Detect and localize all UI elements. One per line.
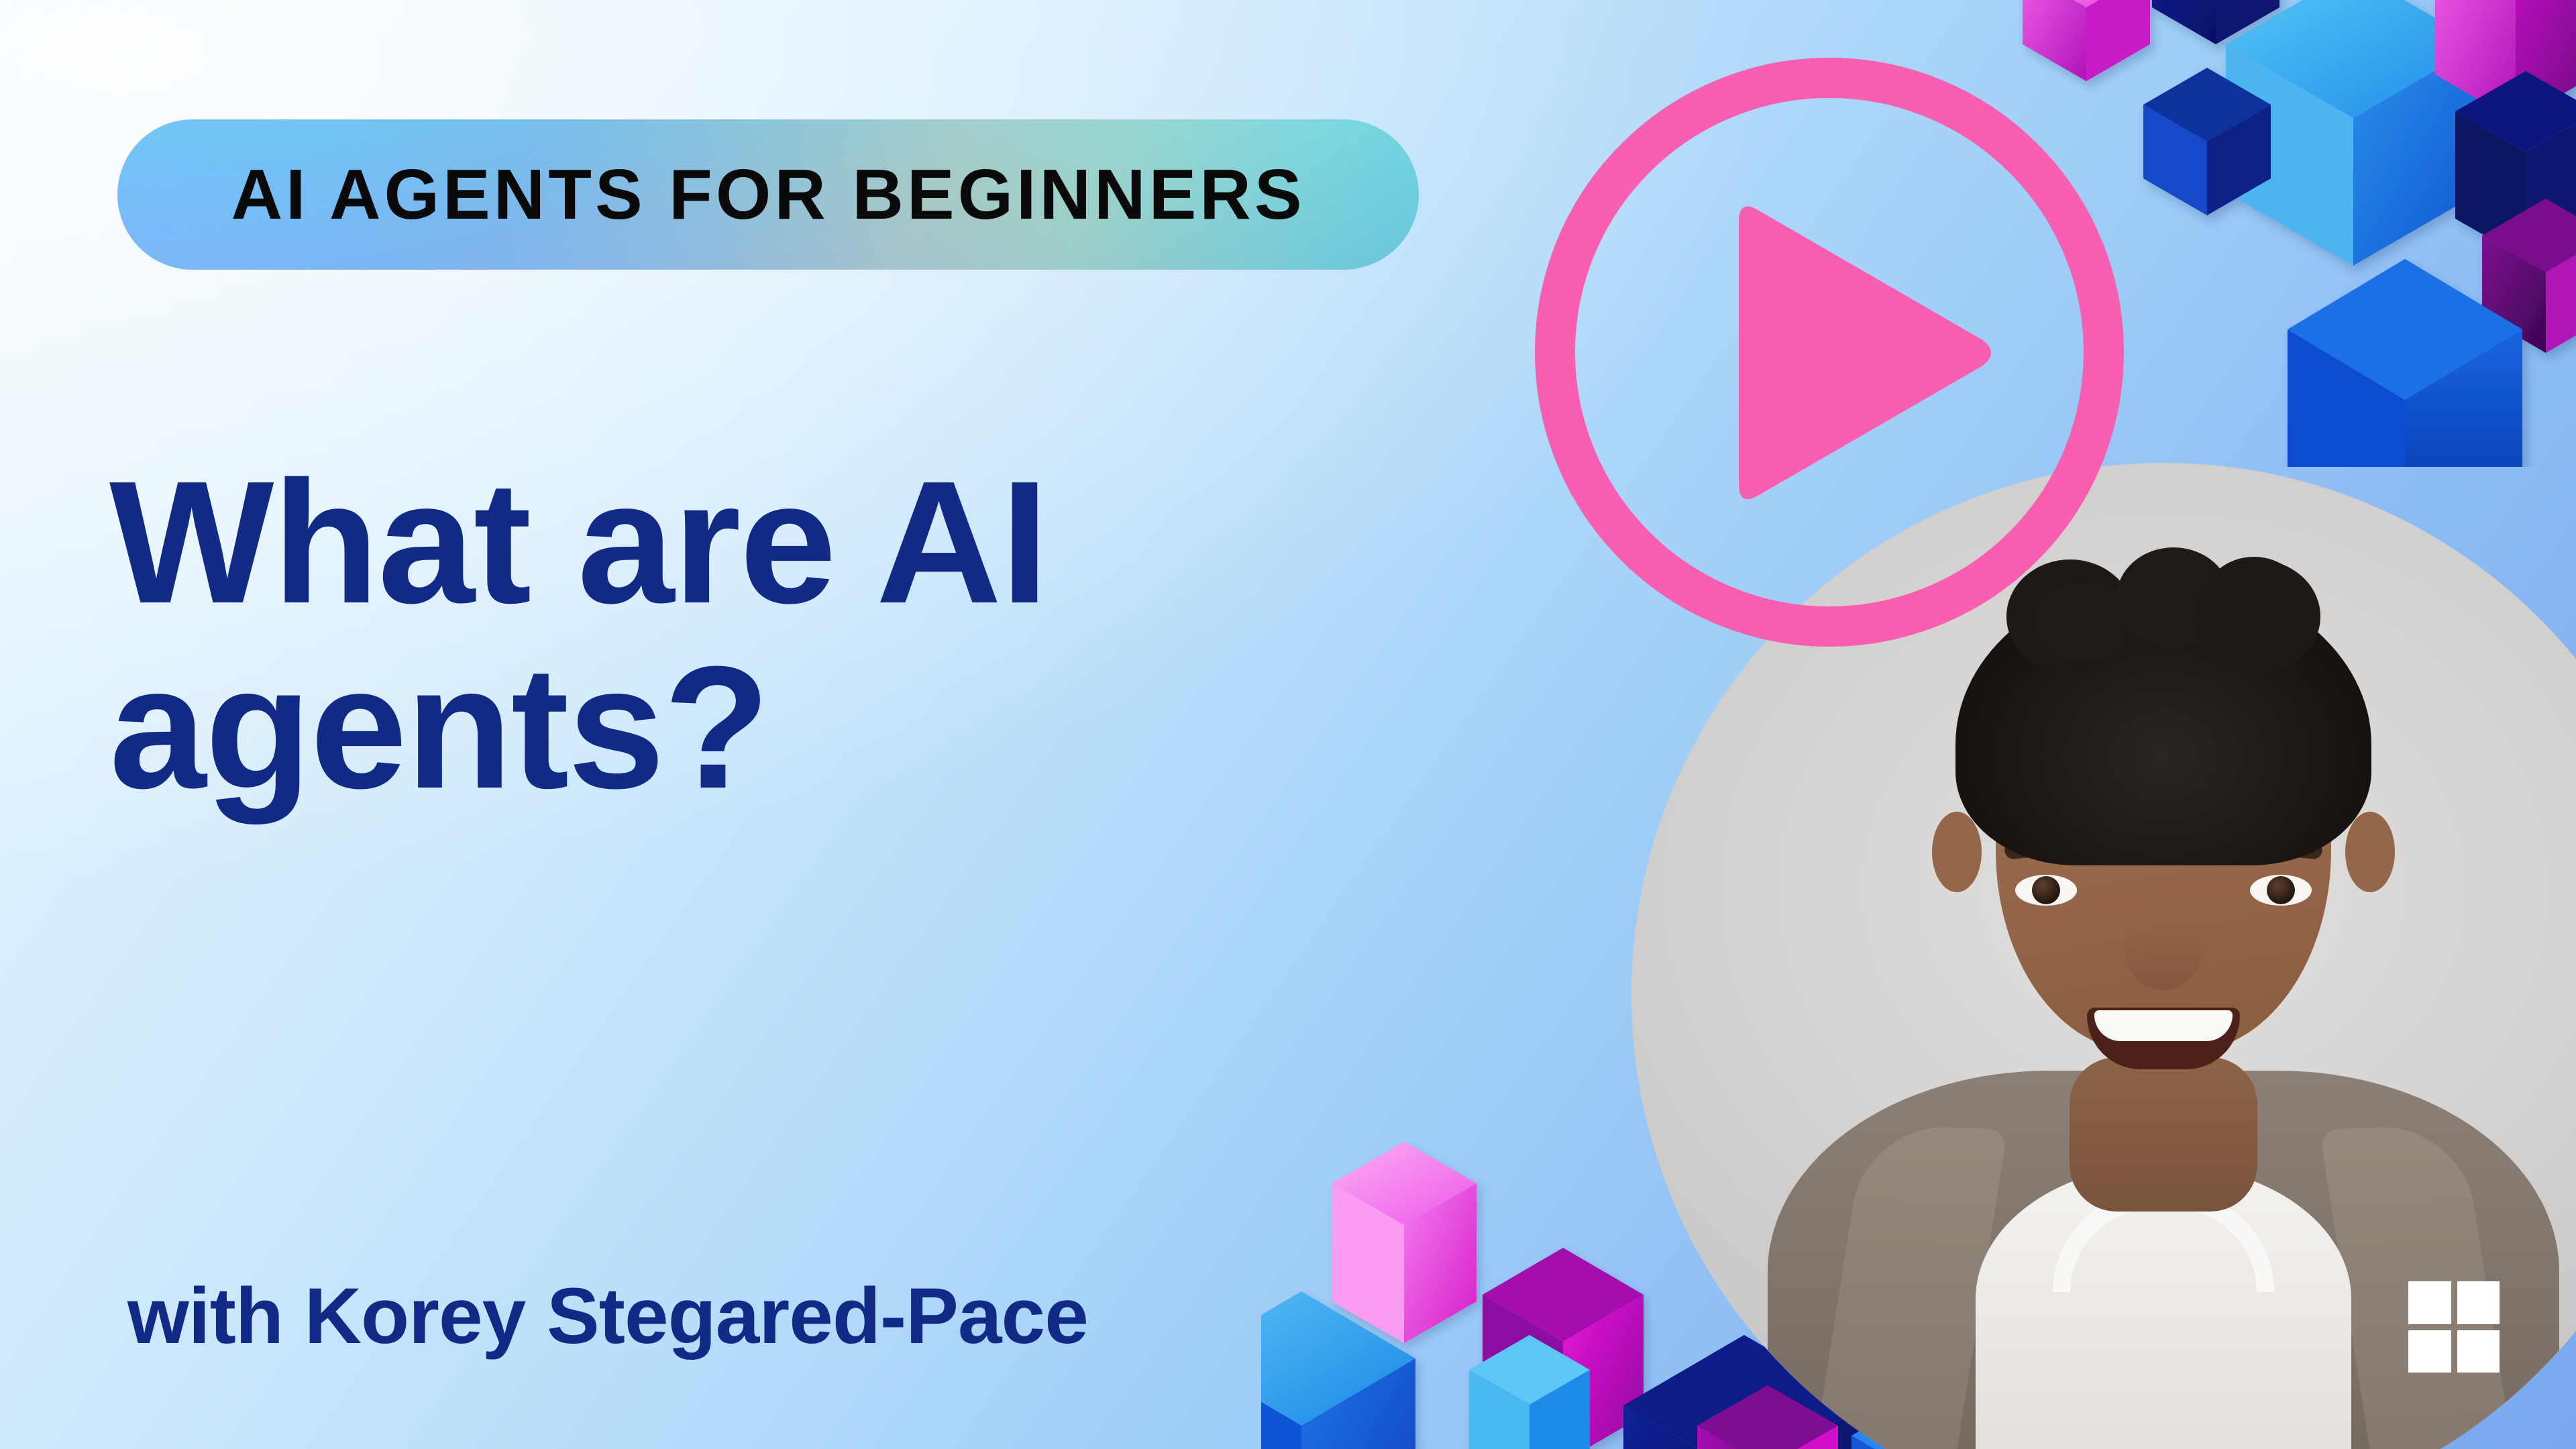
series-badge-label: AI AGENTS FOR BEGINNERS bbox=[231, 159, 1305, 230]
neck bbox=[2070, 1057, 2257, 1212]
microsoft-logo-square-1 bbox=[2408, 1281, 2451, 1324]
eye-left bbox=[2015, 875, 2077, 906]
teeth bbox=[2094, 1010, 2233, 1041]
page-title-line-2: agents? bbox=[109, 636, 1451, 821]
presenter-credit: with Korey Stegared-Pace bbox=[127, 1273, 1088, 1360]
microsoft-logo-square-4 bbox=[2457, 1330, 2500, 1373]
page-title: What are AI agents? bbox=[109, 451, 1451, 820]
hair bbox=[1955, 577, 2371, 865]
page-title-line-1: What are AI bbox=[109, 451, 1451, 636]
video-thumbnail: AI AGENTS FOR BEGINNERS What are AI agen… bbox=[0, 0, 2576, 1449]
microsoft-logo-square-3 bbox=[2408, 1330, 2451, 1373]
microsoft-logo bbox=[2408, 1281, 2500, 1373]
ear-left bbox=[1932, 812, 1982, 892]
ear-right bbox=[2345, 812, 2395, 892]
microsoft-logo-square-2 bbox=[2457, 1281, 2500, 1324]
eye-right bbox=[2250, 875, 2312, 906]
series-badge: AI AGENTS FOR BEGINNERS bbox=[117, 119, 1419, 270]
